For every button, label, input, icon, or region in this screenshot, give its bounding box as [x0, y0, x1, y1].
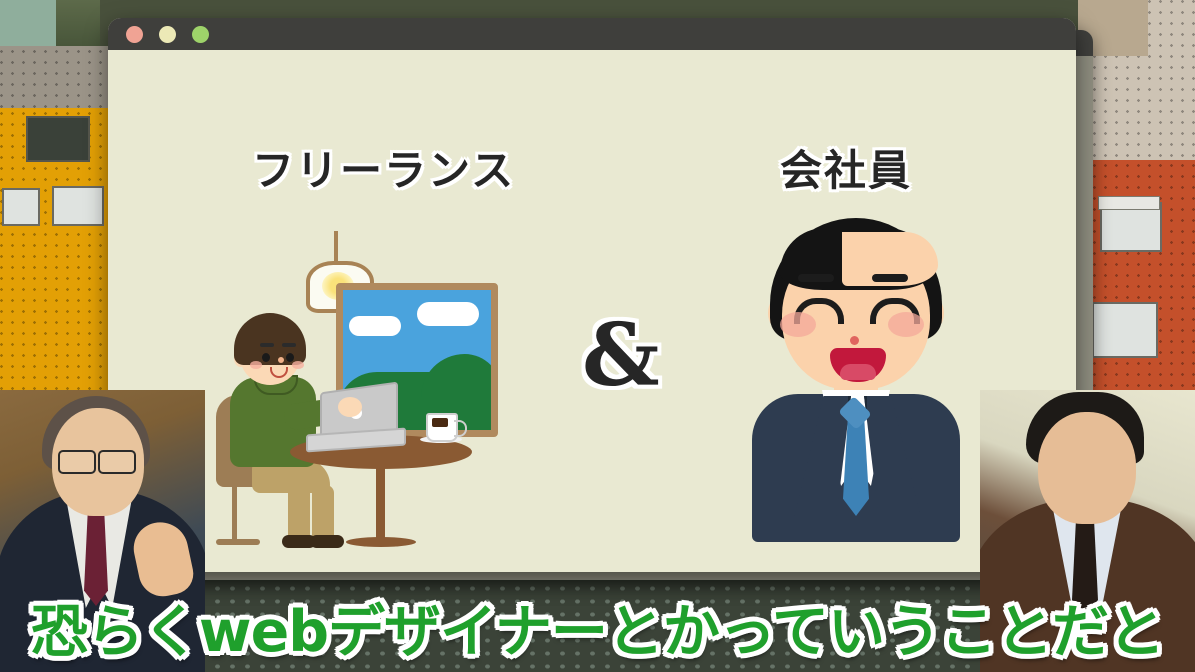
background-window — [1092, 302, 1158, 358]
slide-content: フリーランス 会社員 & — [108, 50, 1076, 572]
person-cheek — [292, 361, 304, 369]
lamp-cord — [334, 231, 338, 261]
air-conditioner-icon — [1098, 196, 1160, 210]
minimize-dot-icon[interactable] — [159, 26, 176, 43]
slide-window: フリーランス 会社員 & — [108, 18, 1076, 572]
cloud-icon — [349, 316, 401, 336]
eyebrow-right — [872, 274, 908, 282]
label-freelance: フリーランス — [252, 137, 515, 198]
person-eye — [286, 353, 294, 362]
background-window — [52, 186, 104, 226]
necktie — [843, 420, 869, 516]
cheek-left — [780, 312, 816, 337]
table-base — [346, 537, 416, 547]
person-hand — [338, 397, 362, 417]
subtitle-caption: 恐らくwebデザイナーとかっていうことだと — [0, 586, 1195, 668]
nose — [850, 336, 859, 345]
cloud-icon — [417, 302, 479, 326]
tongue — [840, 364, 876, 380]
person-cheek — [250, 361, 262, 369]
coffee-cup-icon — [426, 413, 458, 442]
close-dot-icon[interactable] — [126, 26, 143, 43]
person-hair — [234, 313, 306, 365]
person-eyebrow — [282, 343, 296, 347]
maximize-dot-icon[interactable] — [192, 26, 209, 43]
slide-titlebar — [108, 18, 1076, 50]
background-building-green-roof — [0, 0, 56, 46]
eyebrow-left — [798, 274, 834, 282]
person-shoe — [310, 535, 344, 548]
freelancer-illustration — [228, 235, 498, 535]
cheek-right — [888, 312, 924, 337]
eyeglasses-icon — [58, 450, 96, 474]
background-building-concrete — [0, 46, 118, 108]
person-nose — [278, 357, 284, 363]
chair-leg — [232, 483, 237, 543]
table-leg — [376, 457, 385, 543]
background-window — [2, 188, 40, 226]
ampersand-separator: & — [582, 305, 660, 406]
label-company-employee: 会社員 — [780, 137, 912, 198]
background-window — [26, 116, 90, 162]
background-building-yellow — [0, 108, 118, 438]
chair-base — [216, 539, 260, 545]
eyeglasses-icon — [98, 450, 136, 474]
person-eye — [262, 353, 270, 362]
coffee-liquid — [432, 418, 448, 427]
businessman-illustration — [746, 218, 966, 538]
presenter-right-head — [1038, 412, 1136, 524]
video-frame: フリーランス 会社員 & — [0, 0, 1195, 672]
person-eyebrow — [260, 343, 274, 347]
